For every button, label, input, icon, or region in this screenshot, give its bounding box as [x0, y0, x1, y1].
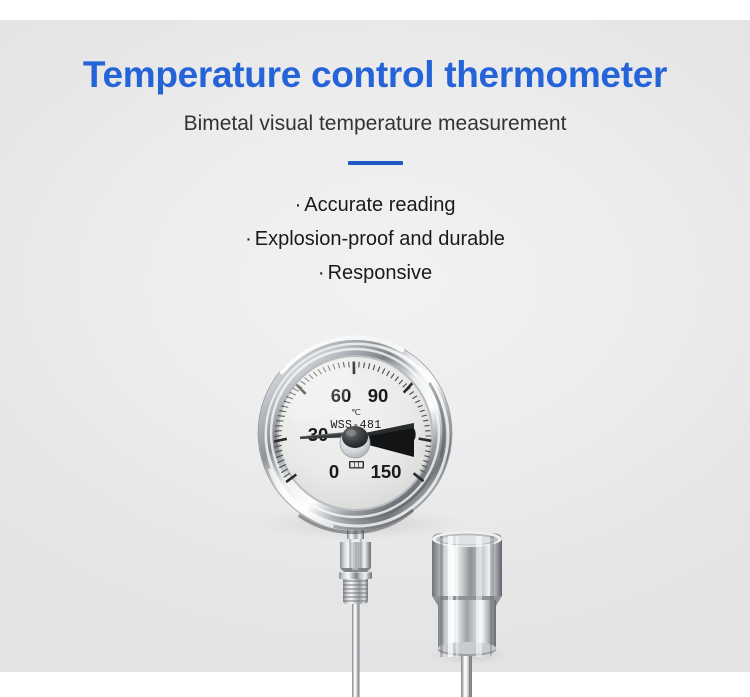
bottom-white-strip — [0, 672, 750, 697]
top-white-strip — [0, 0, 750, 20]
bullet-dot-icon: · — [245, 228, 252, 250]
product-banner: Temperature control thermometer Bimetal … — [0, 0, 750, 697]
bullet-dot-icon: · — [295, 194, 302, 216]
page-title: Temperature control thermometer — [0, 53, 750, 97]
feature-label: Responsive — [328, 262, 433, 284]
title-divider — [348, 161, 403, 165]
page-subtitle: Bimetal visual temperature measurement — [0, 111, 750, 137]
feature-label: Explosion-proof and durable — [255, 228, 505, 250]
bullet-dot-icon: · — [318, 262, 325, 284]
list-item: ·Explosion-proof and durable — [0, 222, 750, 256]
feature-label: Accurate reading — [304, 194, 455, 216]
list-item: ·Accurate reading — [0, 188, 750, 222]
feature-list: ·Accurate reading ·Explosion-proof and d… — [0, 188, 750, 290]
list-item: ·Responsive — [0, 256, 750, 290]
